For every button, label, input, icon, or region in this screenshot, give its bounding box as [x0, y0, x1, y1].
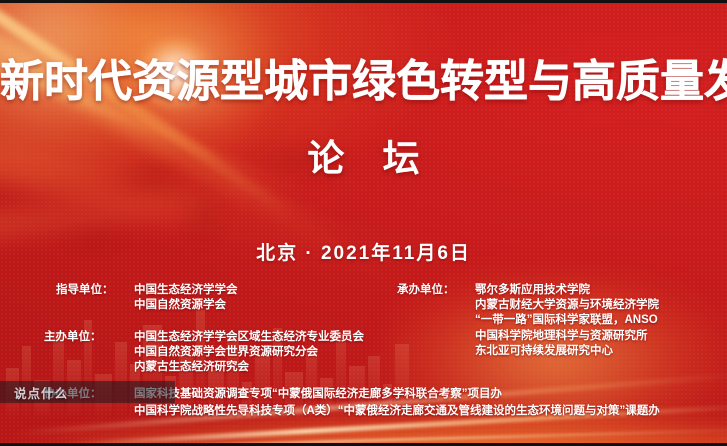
page-title: 新时代资源型城市绿色转型与高质量发展 — [0, 60, 727, 104]
event-date-location: 北京 · 2021年11月6日 — [0, 244, 727, 263]
poster-canvas: 新时代资源型城市绿色转型与高质量发展 论 坛 北京 · 2021年11月6日 指… — [0, 0, 727, 446]
list-item: 中国科学院地理科学与资源研究所 — [475, 329, 659, 344]
organizer-units-list: 鄂尔多斯应用技术学院 内蒙古财经大学资源与环境经济学院 “一带一路”国际科学家联… — [475, 283, 659, 359]
poster-content: 新时代资源型城市绿色转型与高质量发展 论 坛 北京 · 2021年11月6日 指… — [0, 0, 727, 446]
list-item: 东北亚可持续发展研究中心 — [475, 344, 659, 359]
list-item: 中国自然资源学会世界资源研究分会 — [134, 345, 364, 360]
organizer-units-block: 承办单位： 鄂尔多斯应用技术学院 内蒙古财经大学资源与环境经济学院 “一带一路”… — [397, 283, 659, 359]
list-item: 中国自然资源学会 — [134, 298, 238, 313]
list-item: “一带一路”国际科学家联盟，ANSO — [475, 313, 659, 328]
guidance-units-block: 指导单位： 中国生态经济学学会 中国自然资源学会 — [56, 283, 238, 312]
host-units-label: 主办单位： — [44, 330, 134, 345]
comment-input-overlay[interactable]: 说点什么 — [0, 381, 175, 403]
list-item: 鄂尔多斯应用技术学院 — [475, 283, 659, 298]
list-item: 内蒙古生态经济研究会 — [134, 360, 364, 375]
letterbox-top — [0, 0, 727, 3]
list-item: 国家科技基础资源调查专项“中蒙俄国际经济走廊多学科联合考察”项目办 — [134, 386, 660, 403]
guidance-units-label: 指导单位： — [56, 283, 134, 298]
poster-subtitle: 论 坛 — [0, 140, 727, 177]
host-units-block: 主办单位： 中国生态经济学学会区域生态经济专业委员会 中国自然资源学会世界资源研… — [44, 330, 364, 375]
host-units-list: 中国生态经济学学会区域生态经济专业委员会 中国自然资源学会世界资源研究分会 内蒙… — [134, 330, 364, 375]
comment-placeholder-text: 说点什么 — [0, 383, 68, 402]
guidance-units-list: 中国生态经济学学会 中国自然资源学会 — [134, 283, 238, 312]
list-item: 中国科学院战略性先导科技专项（A类）“中蒙俄经济走廊交通及管线建设的生态环境问题… — [134, 403, 660, 420]
list-item: 内蒙古财经大学资源与环境经济学院 — [475, 298, 659, 313]
co-organizer-units-list: 国家科技基础资源调查专项“中蒙俄国际经济走廊多学科联合考察”项目办 中国科学院战… — [134, 386, 660, 419]
list-item: 中国生态经济学学会区域生态经济专业委员会 — [134, 330, 364, 345]
list-item: 中国生态经济学学会 — [134, 283, 238, 298]
organizer-units-label: 承办单位： — [397, 283, 475, 298]
